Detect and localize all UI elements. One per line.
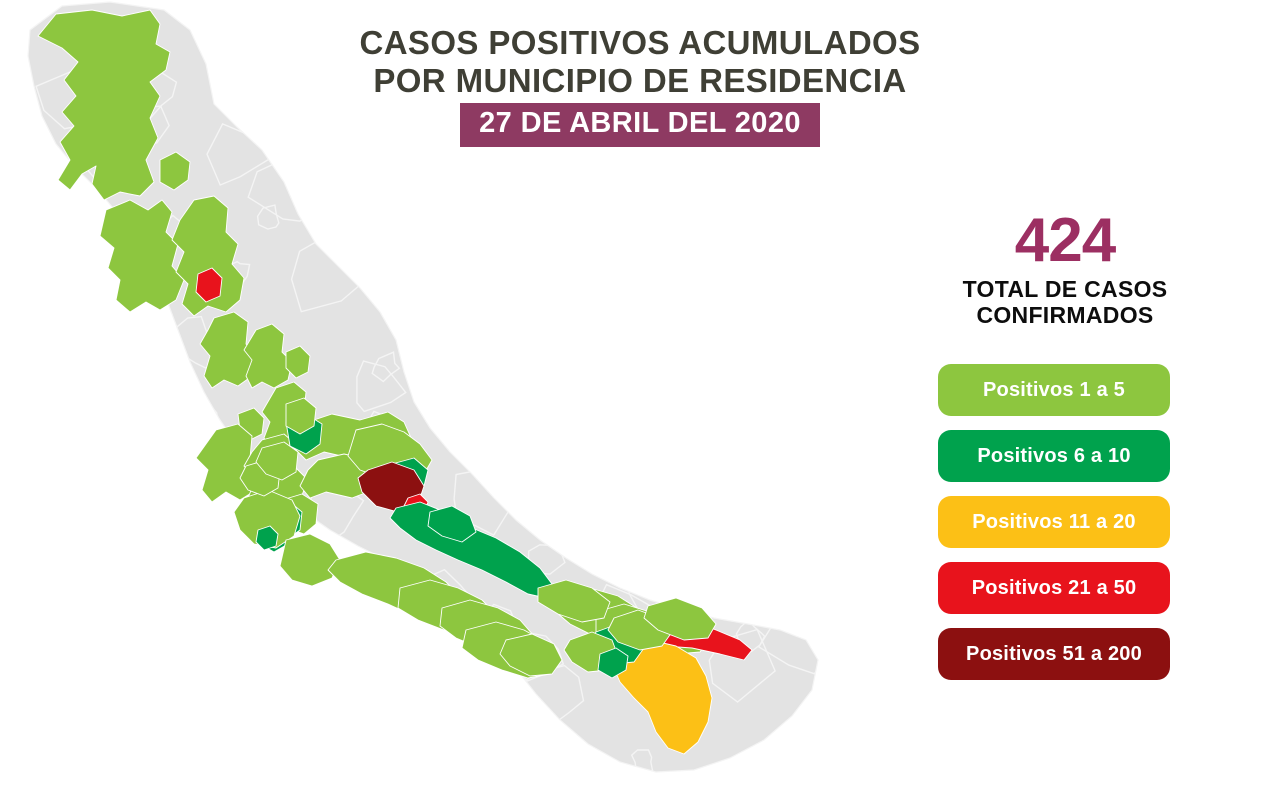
total-cases-label-line-1: TOTAL DE CASOS	[930, 276, 1200, 302]
title-line-2: POR MUNICIPIO DE RESIDENCIA	[330, 62, 950, 100]
legend-item-4[interactable]: Positivos 51 a 200	[938, 628, 1170, 680]
municipal-boundary	[307, 658, 353, 694]
total-cases-value: 424	[930, 212, 1200, 270]
municipal-boundary	[556, 277, 636, 364]
date-banner: 27 DE ABRIL DEL 2020	[460, 103, 820, 147]
municipal-boundary	[84, 752, 138, 785]
municipal-boundary	[231, 42, 265, 77]
municipal-boundary	[577, 368, 648, 446]
municipal-boundary	[262, 683, 291, 712]
legend-item-label: Positivos 1 a 5	[983, 379, 1125, 402]
legend-item-label: Positivos 21 a 50	[972, 577, 1137, 600]
municipal-boundary	[691, 406, 737, 450]
legend-item-3[interactable]: Positivos 21 a 50	[938, 562, 1170, 614]
municipal-boundary	[202, 679, 245, 729]
municipal-boundary	[484, 155, 524, 191]
municipal-boundary	[687, 365, 722, 406]
map-region-r-cordoba[interactable]	[280, 534, 340, 586]
municipal-boundary	[771, 203, 830, 261]
municipal-boundary	[485, 388, 542, 437]
municipal-boundary	[294, 671, 363, 731]
municipal-boundary	[705, 205, 726, 223]
municipal-boundary	[86, 632, 160, 722]
municipal-boundary	[470, 414, 492, 435]
municipal-boundary	[755, 181, 779, 204]
municipal-boundary	[99, 381, 153, 438]
municipal-boundary	[437, 693, 470, 726]
legend-item-label: Positivos 51 a 200	[966, 643, 1142, 666]
municipal-boundary	[758, 276, 785, 304]
total-cases-label-line-2: CONFIRMADOS	[930, 302, 1200, 328]
legend-item-label: Positivos 11 a 20	[972, 511, 1136, 534]
municipal-boundary	[71, 641, 124, 685]
municipal-boundary	[679, 345, 706, 379]
municipal-boundary	[64, 664, 115, 716]
municipal-boundary	[470, 309, 526, 360]
municipal-boundary	[405, 347, 425, 368]
municipal-boundary	[73, 653, 136, 711]
municipal-boundary	[694, 214, 750, 256]
municipal-boundary	[740, 498, 820, 580]
municipal-boundary	[649, 189, 684, 223]
municipal-boundary	[82, 598, 142, 660]
municipal-boundary	[358, 718, 400, 754]
municipal-boundary	[544, 249, 579, 280]
municipal-boundary	[449, 205, 526, 268]
municipal-boundary	[737, 499, 797, 551]
legend-item-2[interactable]: Positivos 11 a 20	[938, 496, 1170, 548]
legend-item-1[interactable]: Positivos 6 a 10	[938, 430, 1170, 482]
title-line-1: CASOS POSITIVOS ACUMULADOS	[330, 24, 950, 62]
municipal-boundary	[103, 721, 127, 741]
municipal-boundary	[142, 667, 192, 713]
municipal-boundary	[272, 124, 308, 162]
municipal-boundary	[282, 621, 342, 679]
municipal-boundary	[596, 360, 673, 436]
municipal-boundary	[509, 414, 569, 487]
municipal-boundary	[626, 442, 694, 496]
municipal-boundary	[93, 747, 122, 785]
total-cases-label: TOTAL DE CASOS CONFIRMADOS	[930, 276, 1200, 328]
municipal-boundary	[446, 322, 528, 406]
municipal-boundary	[432, 295, 466, 330]
summary-panel: 424 TOTAL DE CASOS CONFIRMADOS Positivos…	[900, 212, 1230, 680]
municipal-boundary	[275, 0, 314, 42]
municipal-boundary	[692, 451, 762, 547]
municipal-boundary	[417, 659, 447, 688]
date-banner-wrap: 27 DE ABRIL DEL 2020	[330, 103, 950, 147]
municipal-boundary	[457, 691, 525, 756]
municipal-boundary	[737, 486, 791, 543]
municipal-boundary	[769, 395, 830, 472]
page-title: CASOS POSITIVOS ACUMULADOS POR MUNICIPIO…	[330, 24, 950, 147]
municipal-boundary	[742, 250, 780, 281]
municipal-boundary	[462, 409, 497, 440]
municipal-boundary	[573, 440, 602, 468]
municipal-boundary	[353, 627, 400, 679]
municipal-boundary	[595, 516, 612, 535]
municipal-boundary	[735, 553, 792, 610]
legend: Positivos 1 a 5Positivos 6 a 10Positivos…	[938, 364, 1170, 680]
legend-item-0[interactable]: Positivos 1 a 5	[938, 364, 1170, 416]
legend-item-label: Positivos 6 a 10	[977, 445, 1130, 468]
municipal-boundary	[328, 182, 392, 231]
